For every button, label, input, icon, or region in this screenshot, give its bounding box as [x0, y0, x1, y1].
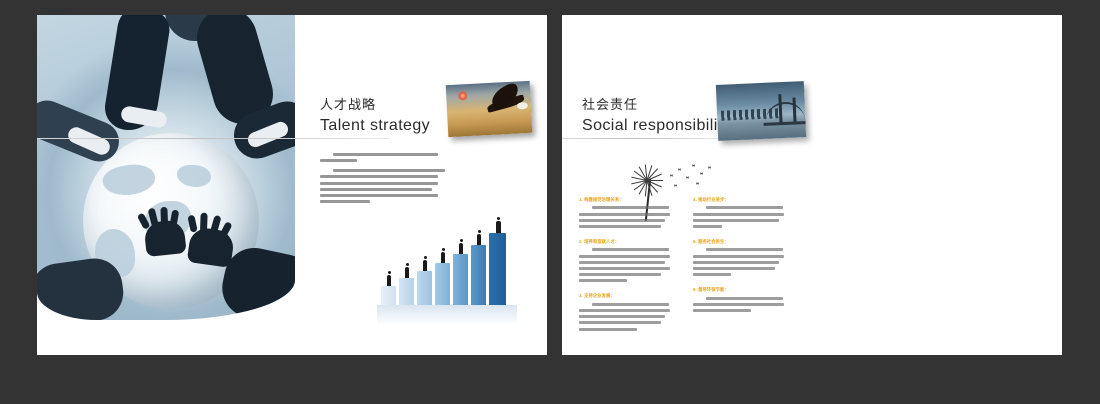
figure-silhouette	[405, 267, 409, 278]
soaring-eagle-photo	[446, 81, 533, 137]
dandelion-seed	[670, 175, 673, 178]
figure-silhouette	[441, 252, 445, 263]
dandelion-seed	[674, 185, 677, 188]
heading-cn: 社会责任	[582, 95, 731, 115]
eagle-head	[517, 102, 528, 110]
item-body	[693, 206, 789, 228]
page-right: 社会责任 Social responsibility	[562, 15, 1062, 355]
heading-rule	[562, 138, 722, 139]
list-item: 5. 服务社会民生：	[693, 239, 789, 276]
heading-cn: 人才战略	[320, 95, 430, 115]
chart-bar	[381, 286, 396, 306]
page-left-body-copy	[320, 153, 444, 210]
dandelion-head	[630, 163, 666, 197]
chart-bar	[471, 245, 486, 305]
paragraph	[320, 169, 444, 203]
item-title: 4. 推动行业进步：	[693, 197, 789, 203]
item-body	[579, 206, 675, 228]
bridge-deck	[764, 121, 806, 126]
chart-bar	[399, 278, 414, 305]
dandelion-seed	[686, 177, 689, 180]
item-title: 6. 倡导环保节能：	[693, 287, 789, 293]
list-item: 3. 支持企业发展：	[579, 293, 675, 330]
page-right-heading: 社会责任 Social responsibility	[582, 95, 731, 136]
dandelion-seed	[692, 165, 695, 168]
list-item: 4. 推动行业进步：	[693, 197, 789, 228]
list-item: 1. 构建规范治理关系：	[579, 197, 675, 228]
heading-en: Social responsibility	[582, 115, 731, 137]
item-body	[693, 297, 789, 312]
page-left-heading: 人才战略 Talent strategy	[320, 95, 430, 136]
hand-silhouette	[187, 226, 236, 268]
ascending-bar-chart	[377, 230, 517, 305]
list-item: 6. 倡导环保节能：	[693, 287, 789, 312]
sun-glow	[458, 91, 467, 100]
bridge-tower	[792, 97, 796, 123]
item-body	[693, 248, 789, 276]
chart-bar	[417, 271, 432, 306]
dandelion-seed	[708, 167, 711, 170]
figure-silhouette	[459, 243, 463, 254]
heading-rule	[37, 138, 389, 139]
item-body	[579, 248, 675, 282]
chart-bar	[435, 263, 450, 305]
figure-silhouette	[387, 275, 391, 286]
chart-reflection	[377, 305, 517, 325]
item-body	[579, 303, 675, 331]
hands-reaching-globe-photo	[37, 15, 295, 320]
dandelion-seed	[678, 169, 681, 172]
bridge-cable	[765, 101, 806, 123]
responsibility-column-left: 1. 构建规范治理关系： 2. 培养和造就人才： 3. 支持企业发展：	[579, 197, 675, 342]
responsibility-item-columns: 1. 构建规范治理关系： 2. 培养和造就人才： 3. 支持企业发展：	[579, 197, 789, 342]
figure-silhouette	[477, 234, 481, 245]
figure-silhouette	[423, 260, 427, 271]
chart-bar	[453, 254, 468, 305]
figure-silhouette-winner	[496, 221, 501, 233]
suspension-bridge-photo	[716, 81, 806, 141]
page-left: 人才战略 Talent strategy	[37, 15, 547, 355]
dandelion-seed	[700, 173, 703, 176]
item-title: 2. 培养和造就人才：	[579, 239, 675, 245]
item-title: 1. 构建规范治理关系：	[579, 197, 675, 203]
item-title: 3. 支持企业发展：	[579, 293, 675, 299]
bridge-tower	[778, 94, 782, 124]
list-item: 2. 培养和造就人才：	[579, 239, 675, 282]
brochure-spread: 人才战略 Talent strategy	[0, 0, 1100, 404]
item-title: 5. 服务社会民生：	[693, 239, 789, 245]
paragraph	[320, 153, 444, 162]
dandelion-seed	[696, 183, 699, 186]
responsibility-column-right: 4. 推动行业进步： 5. 服务社会民生： 6. 倡导环保节能：	[693, 197, 789, 342]
chart-bar	[489, 233, 506, 305]
heading-en: Talent strategy	[320, 115, 430, 137]
